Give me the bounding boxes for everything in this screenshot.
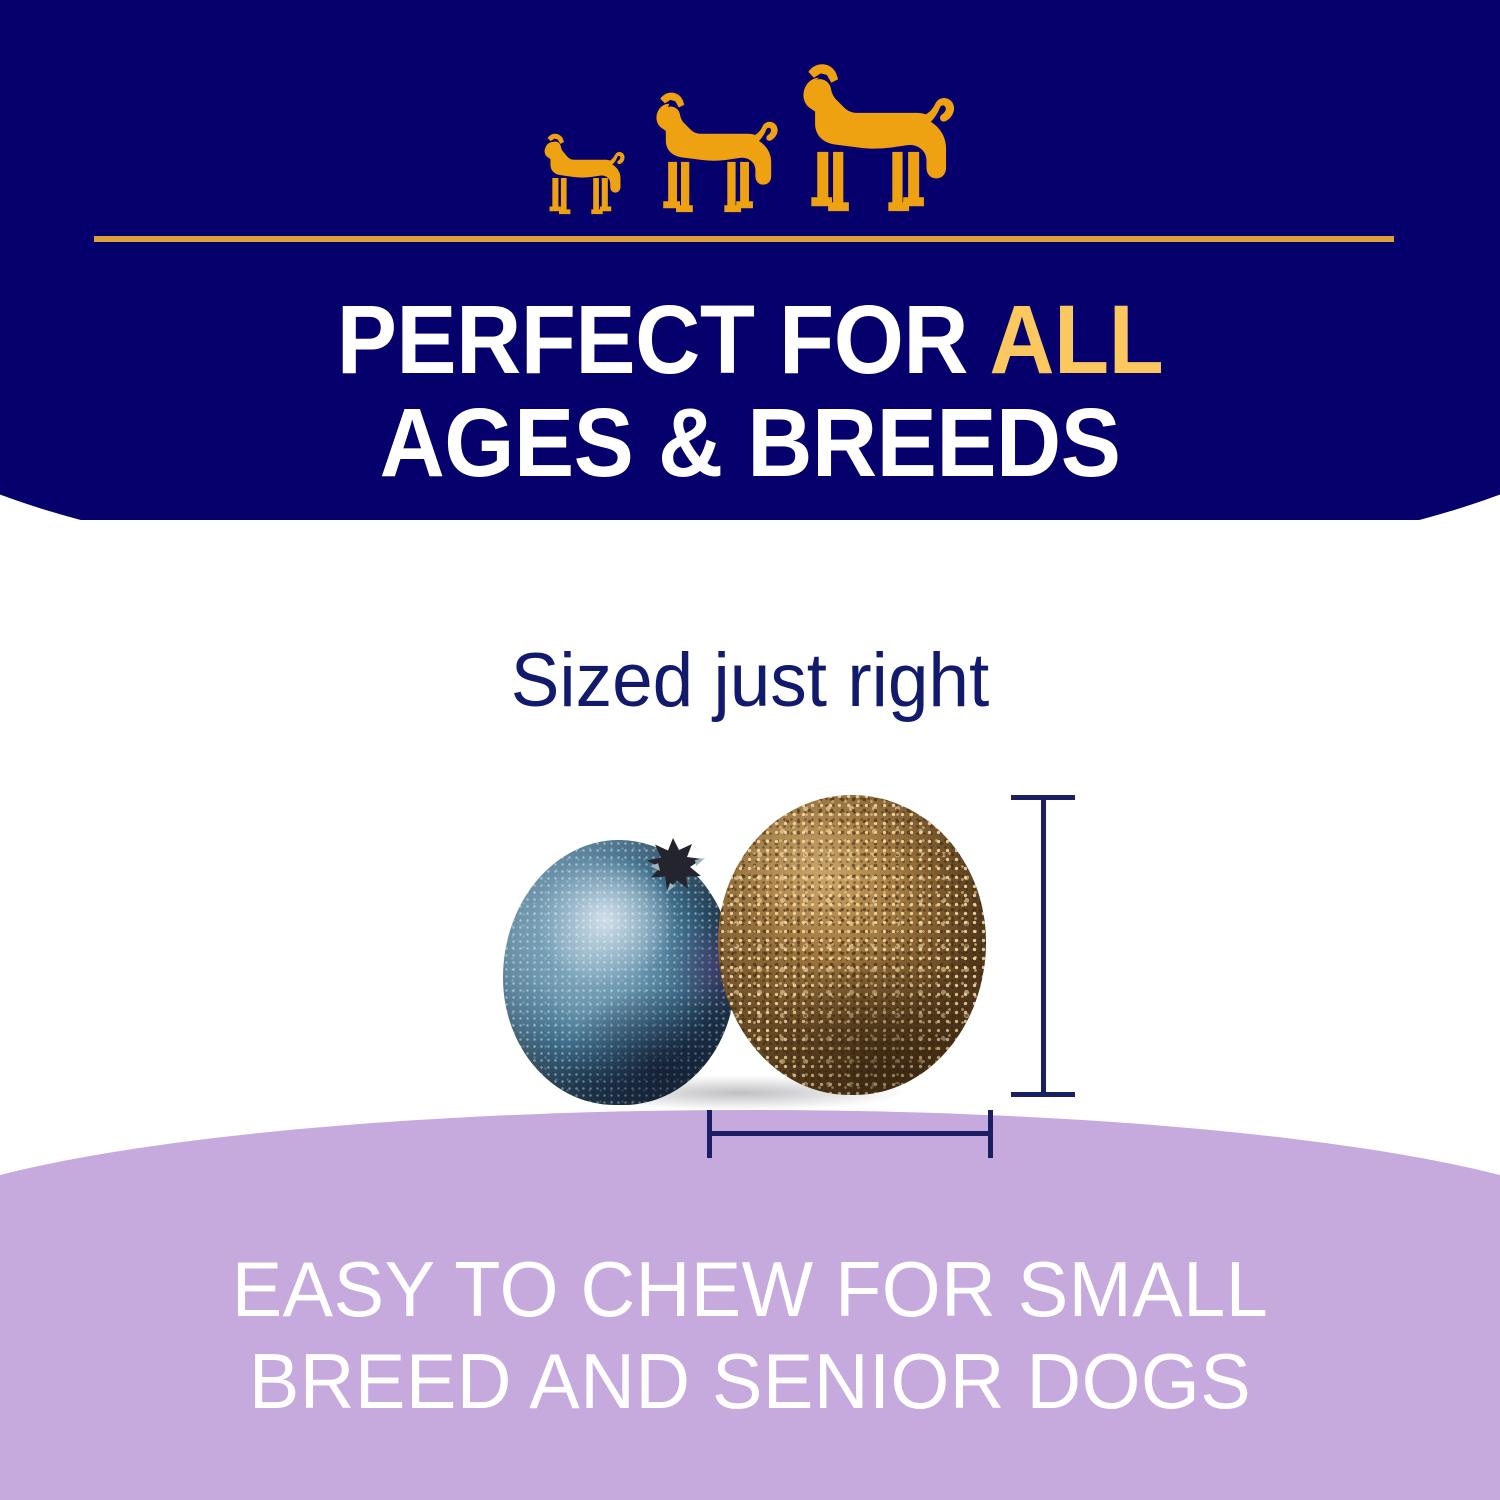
width-measure-line xyxy=(709,1131,992,1136)
height-measure-line xyxy=(1041,797,1046,1097)
footer-line-1: EASY TO CHEW FOR SMALL xyxy=(23,1243,1478,1335)
footer-line-2: BREED AND SENIOR DOGS xyxy=(23,1335,1478,1427)
page-headline: PERFECT FOR ALL AGES & BREEDS xyxy=(53,288,1448,494)
subhead-sized-just-right: Sized just right xyxy=(30,638,1470,724)
dog-treat-image xyxy=(718,795,986,1095)
headline-line-2: AGES & BREEDS xyxy=(53,391,1448,494)
dog-silhouette-small-icon xyxy=(540,115,635,222)
headline-line-1: PERFECT FOR ALL xyxy=(53,288,1448,391)
headline-accent-all: ALL xyxy=(989,285,1163,394)
width-measure-cap-right xyxy=(988,1110,993,1158)
height-measure-cap-bottom xyxy=(1011,1092,1075,1097)
footer-message: EASY TO CHEW FOR SMALL BREED AND SENIOR … xyxy=(23,1243,1478,1427)
width-measure-cap-left xyxy=(707,1110,712,1158)
gold-divider-rule xyxy=(94,236,1394,242)
dog-size-icon-row xyxy=(0,62,1500,222)
product-feature-graphic: PERFECT FOR ALL AGES & BREEDS Sized just… xyxy=(0,0,1500,1500)
dog-silhouette-large-icon xyxy=(794,62,961,222)
headline-line-1-text: PERFECT FOR xyxy=(337,285,990,394)
blueberry-crown-icon xyxy=(632,836,718,898)
height-measure-cap-top xyxy=(1011,795,1075,800)
dog-silhouette-medium-icon xyxy=(649,84,780,222)
